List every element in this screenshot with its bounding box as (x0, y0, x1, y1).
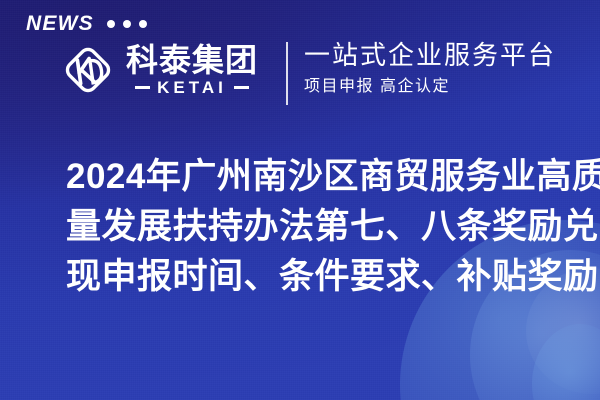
headline-line-3: 现申报时间、条件要求、补贴奖励 (66, 252, 540, 302)
news-dots-icon (107, 20, 147, 28)
news-dot-3 (139, 20, 147, 28)
brand-text-block: 科泰集团 KETAI (126, 44, 258, 96)
news-eyebrow: NEWS (26, 13, 147, 34)
ketai-diamond-k-monogram-icon (60, 42, 116, 98)
brand-dash-left (135, 86, 150, 89)
headline-line-1: 2024年广州南沙区商贸服务业高质 (66, 152, 540, 202)
brand-name-en-row: KETAI (126, 79, 258, 96)
tagline-secondary: 项目申报 高企认定 (304, 77, 556, 96)
news-label: NEWS (26, 13, 94, 34)
tagline-primary: 一站式企业服务平台 (304, 40, 556, 72)
headline-line-2: 量发展扶持办法第七、八条奖励兑 (66, 202, 540, 252)
vertical-divider (286, 42, 288, 105)
news-banner: NEWS 科泰集团 KETAI (0, 0, 600, 400)
brand-name-en: KETAI (157, 79, 227, 96)
brand-dash-right (234, 86, 249, 89)
brand-name-cn: 科泰集团 (126, 44, 258, 78)
headline-block: 2024年广州南沙区商贸服务业高质 量发展扶持办法第七、八条奖励兑 现申报时间、… (66, 152, 540, 302)
brand-lockup: 科泰集团 KETAI (60, 42, 258, 98)
tagline-block: 一站式企业服务平台 项目申报 高企认定 (304, 40, 556, 96)
news-dot-2 (123, 20, 131, 28)
news-dot-1 (107, 20, 115, 28)
